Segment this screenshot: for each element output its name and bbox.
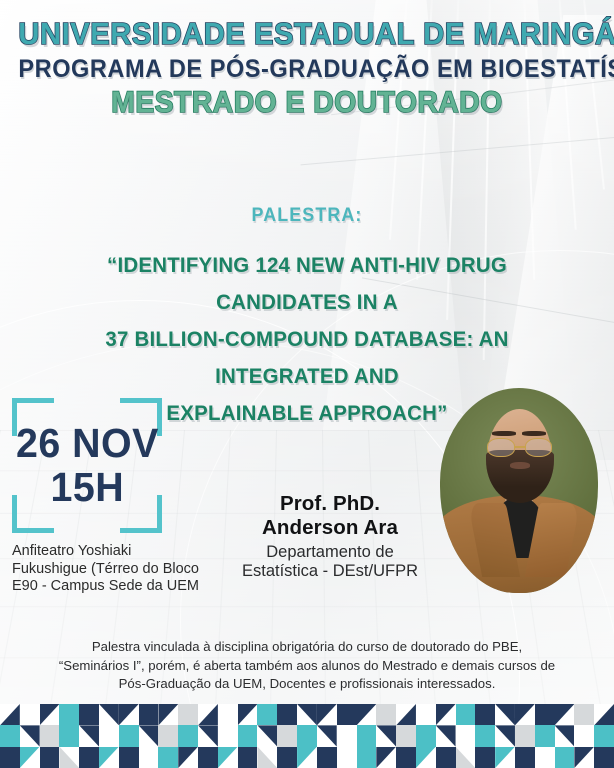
pattern-cell — [475, 725, 495, 746]
pattern-cell — [376, 704, 396, 725]
pattern-cell — [475, 747, 495, 768]
pattern-cell — [495, 725, 515, 746]
pattern-cell — [99, 704, 119, 725]
pattern-cell — [317, 704, 337, 725]
pattern-cell — [317, 747, 337, 768]
pattern-cell — [178, 704, 198, 725]
event-poster: UNIVERSIDADE ESTADUAL DE MARINGÁ PROGRAM… — [0, 0, 614, 768]
pattern-cell — [436, 725, 456, 746]
pattern-cell — [238, 747, 258, 768]
pattern-cell — [555, 704, 575, 725]
speaker-photo — [440, 388, 598, 593]
pattern-cell — [119, 747, 139, 768]
header-line-degrees: MESTRADO E DOUTORADO — [18, 87, 595, 119]
event-time: 15H — [50, 467, 124, 509]
pattern-cell — [475, 704, 495, 725]
talk-title-line-2: 37 BILLION-COMPOUND DATABASE: AN INTEGRA… — [38, 321, 576, 395]
pattern-cell — [0, 747, 20, 768]
pattern-cell — [317, 725, 337, 746]
pattern-cell — [396, 725, 416, 746]
pattern-cell — [119, 704, 139, 725]
poster-header: UNIVERSIDADE ESTADUAL DE MARINGÁ PROGRAM… — [0, 18, 614, 118]
decorative-pattern-strip — [0, 704, 614, 768]
pattern-cell — [238, 704, 258, 725]
pattern-cell — [297, 725, 317, 746]
pattern-cell — [535, 725, 555, 746]
pattern-cell — [218, 704, 238, 725]
pattern-cell — [198, 704, 218, 725]
pattern-cell — [59, 725, 79, 746]
pattern-cell — [158, 725, 178, 746]
department-line-2: Estatística - DEst/UFPR — [215, 562, 445, 582]
pattern-cell — [257, 725, 277, 746]
speaker-name-line: Anderson Ara — [215, 516, 445, 540]
pattern-cell — [574, 725, 594, 746]
talk-label: PALESTRA: — [41, 205, 573, 227]
pattern-cell — [555, 725, 575, 746]
pattern-cell — [178, 725, 198, 746]
pattern-cell — [574, 704, 594, 725]
pattern-cell — [456, 747, 476, 768]
talk-title-line-1: “IDENTIFYING 124 NEW ANTI-HIV DRUG CANDI… — [38, 247, 576, 321]
pattern-cell — [139, 725, 159, 746]
pattern-cell — [79, 704, 99, 725]
venue-line-1: Anfiteatro Yoshiaki — [12, 543, 212, 561]
pattern-cell — [416, 704, 436, 725]
pattern-cell — [257, 747, 277, 768]
footer-note-line-1: Palestra vinculada à disciplina obrigató… — [18, 638, 596, 657]
venue-line-3: E90 - Campus Sede da UEM — [12, 578, 212, 596]
pattern-cell — [416, 725, 436, 746]
pattern-cell — [139, 747, 159, 768]
pattern-cell — [79, 747, 99, 768]
pattern-cell — [198, 747, 218, 768]
header-line-university: UNIVERSIDADE ESTADUAL DE MARINGÁ — [18, 18, 595, 51]
pattern-cell — [0, 704, 20, 725]
pattern-cell — [357, 725, 377, 746]
pattern-cell — [297, 704, 317, 725]
pattern-cell — [574, 747, 594, 768]
department-line-1: Departamento de — [215, 543, 445, 563]
pattern-cell — [594, 725, 614, 746]
event-date: 26 NOV — [16, 423, 159, 465]
pattern-cell — [515, 704, 535, 725]
footer-note-line-2: “Seminários I”, porém, é aberta também a… — [18, 657, 596, 676]
pattern-cell — [158, 704, 178, 725]
pattern-cell — [40, 747, 60, 768]
pattern-cell — [337, 704, 357, 725]
pattern-cell — [456, 704, 476, 725]
pattern-cell — [59, 704, 79, 725]
pattern-cell — [297, 747, 317, 768]
pattern-cell — [277, 747, 297, 768]
pattern-cell — [535, 704, 555, 725]
pattern-cell — [277, 704, 297, 725]
pattern-cell — [376, 747, 396, 768]
pattern-cell — [20, 747, 40, 768]
pattern-cell — [515, 747, 535, 768]
pattern-cell — [535, 747, 555, 768]
pattern-cell — [436, 704, 456, 725]
pattern-cell — [20, 704, 40, 725]
pattern-cell — [40, 704, 60, 725]
pattern-cell — [158, 747, 178, 768]
pattern-cell — [396, 747, 416, 768]
pattern-cell — [257, 704, 277, 725]
pattern-cell — [119, 725, 139, 746]
pattern-cell — [416, 747, 436, 768]
pattern-cell — [99, 725, 119, 746]
pattern-cell — [376, 725, 396, 746]
glasses-icon — [487, 438, 552, 456]
pattern-cell — [357, 704, 377, 725]
pattern-cell — [178, 747, 198, 768]
pattern-cell — [555, 747, 575, 768]
pattern-cell — [79, 725, 99, 746]
pattern-cell — [238, 725, 258, 746]
pattern-cell — [396, 704, 416, 725]
pattern-cell — [20, 725, 40, 746]
pattern-cell — [218, 725, 238, 746]
pattern-cell — [59, 747, 79, 768]
pattern-cell — [218, 747, 238, 768]
speaker-department: Departamento de Estatística - DEst/UFPR — [215, 543, 445, 583]
pattern-cell — [277, 725, 297, 746]
pattern-cell — [0, 725, 20, 746]
pattern-cell — [337, 725, 357, 746]
footer-note-line-3: Pós-Graduação da UEM, Docentes e profiss… — [18, 675, 596, 694]
pattern-cell — [198, 725, 218, 746]
footer-note: Palestra vinculada à disciplina obrigató… — [18, 638, 596, 694]
speaker-title-line: Prof. PhD. — [215, 492, 445, 516]
pattern-cell — [456, 725, 476, 746]
header-line-program: PROGRAMA DE PÓS-GRADUAÇÃO EM BIOESTATÍST… — [18, 56, 595, 82]
pattern-cell — [495, 704, 515, 725]
pattern-cell — [515, 725, 535, 746]
pattern-cell — [594, 704, 614, 725]
pattern-cell — [139, 704, 159, 725]
pattern-cell — [40, 725, 60, 746]
speaker-name: Prof. PhD. Anderson Ara — [215, 492, 445, 540]
venue-line-2: Fukushigue (Térreo do Bloco — [12, 561, 212, 579]
pattern-cell — [594, 747, 614, 768]
speaker-info: Prof. PhD. Anderson Ara Departamento de … — [215, 492, 445, 582]
pattern-cell — [495, 747, 515, 768]
pattern-cell — [337, 747, 357, 768]
pattern-cell — [436, 747, 456, 768]
pattern-cell — [99, 747, 119, 768]
pattern-cell — [357, 747, 377, 768]
venue-address: Anfiteatro Yoshiaki Fukushigue (Térreo d… — [12, 543, 212, 596]
date-time-block: 26 NOV 15H — [12, 398, 162, 533]
